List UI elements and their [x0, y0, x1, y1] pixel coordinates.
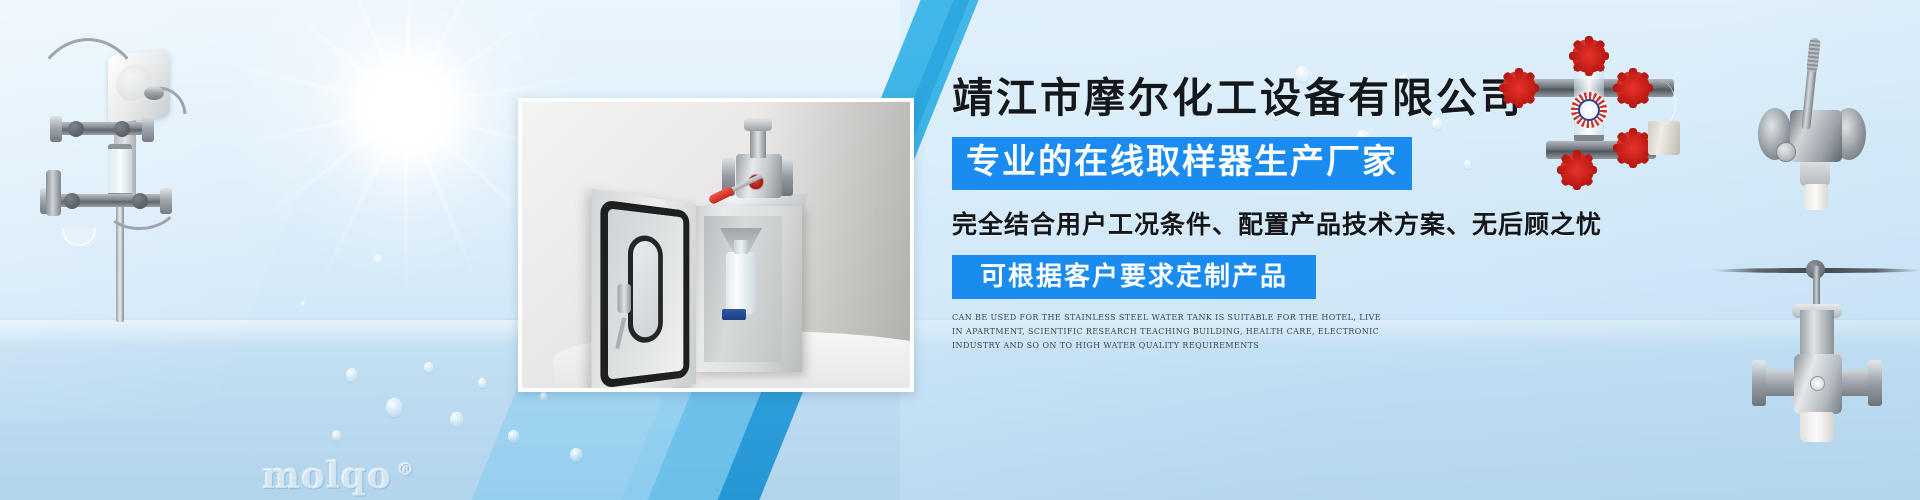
- cabinet-door: [591, 189, 696, 388]
- product-cross-sampler: [1490, 35, 1690, 175]
- photo-content: [522, 102, 910, 388]
- english-description: CAN BE USED FOR THE STAINLESS STEEL WATE…: [952, 311, 1382, 353]
- product-photo-cabinet: [518, 98, 914, 392]
- rig-pressure-regulator: [46, 170, 61, 216]
- water-droplet: [346, 368, 357, 382]
- product-banner: 靖江市摩尔化工设备有限公司 专业的在线取样器生产厂家 完全结合用户工况条件、配置…: [0, 0, 1920, 500]
- rig-sample-cup: [62, 228, 96, 246]
- gate-valve-flange-left: [1752, 360, 1766, 406]
- watermark-text: molqo: [262, 455, 392, 497]
- door-lock: [618, 284, 631, 313]
- lever-valve-body: [1790, 110, 1842, 162]
- handwheel-lower-right: [1616, 131, 1650, 165]
- lever-valve-outlet: [1804, 184, 1828, 210]
- gate-valve-bonnet: [1800, 310, 1834, 358]
- water-droplet: [540, 392, 547, 401]
- valve-knob: [744, 118, 772, 131]
- lever-valve-nameplate: [1776, 142, 1796, 162]
- water-droplet: [332, 430, 341, 441]
- gate-valve-flange-right: [1868, 360, 1882, 406]
- cross-safety-wire: [1642, 81, 1676, 127]
- product-gate-valve: [1750, 272, 1920, 462]
- sample-bottle-cap: [722, 309, 746, 320]
- sparkle: [372, 253, 383, 264]
- gate-valve-nameplate: [1810, 376, 1825, 391]
- water-droplet: [424, 362, 433, 373]
- door-gasket: [600, 199, 689, 388]
- custom-product-badge: 可根据客户要求定制产品: [952, 255, 1316, 300]
- water-droplet: [478, 378, 486, 388]
- handwheel-left: [1502, 71, 1536, 105]
- headline-badge: 专业的在线取样器生产厂家: [952, 137, 1412, 190]
- brand-seal-logo: [1568, 89, 1610, 131]
- rig-top-flange: [144, 86, 164, 100]
- gate-valve-outlet: [1800, 412, 1834, 442]
- water-droplet: [570, 448, 582, 462]
- top-valve-assembly: [710, 122, 806, 206]
- door-key: [615, 317, 626, 349]
- sub-headline: 完全结合用户工况条件、配置产品技术方案、无后顾之忧: [952, 205, 1652, 241]
- sparkle: [300, 300, 306, 306]
- water-droplet: [508, 430, 519, 443]
- lever-valve-cap: [1800, 162, 1830, 186]
- watermark-registered-mark: ®: [397, 460, 415, 480]
- water-droplet: [386, 398, 402, 417]
- handwheel-bottom: [1560, 153, 1594, 187]
- watermark-logo: molqo®: [262, 458, 415, 494]
- sample-bottle: [726, 252, 756, 314]
- product-sampler-rig: [10, 22, 190, 322]
- rig-valve-knob: [64, 193, 80, 209]
- door-window: [628, 234, 663, 344]
- handwheel-top: [1572, 39, 1606, 73]
- product-lever-valve: [1722, 30, 1902, 230]
- water-droplet: [450, 412, 463, 427]
